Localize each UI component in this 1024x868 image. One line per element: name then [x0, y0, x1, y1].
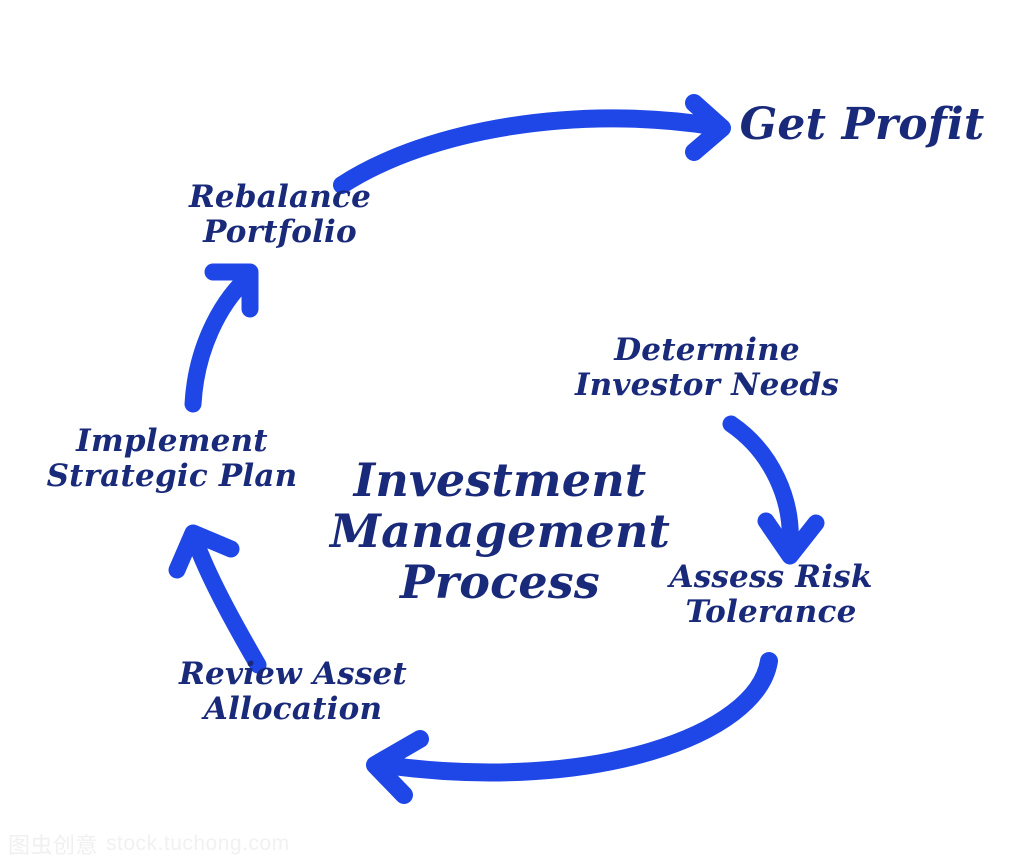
watermark-brand: 图虫创意 — [8, 828, 98, 860]
arrow-implement-to-rebalance — [193, 272, 250, 404]
page-title-line-2: Management — [330, 507, 670, 556]
step-label-implement[interactable]: Implement Strategic Plan — [47, 424, 298, 493]
arrow-review-to-implement — [177, 533, 258, 665]
diagram-canvas: Investment Management Process Determine … — [0, 0, 1024, 868]
watermark: 图虫创意 stock.tuchong.com — [8, 828, 290, 860]
arrow-assess-to-review — [375, 661, 769, 795]
outcome-label-get-profit[interactable]: Get Profit — [740, 100, 985, 149]
watermark-url: stock.tuchong.com — [106, 832, 290, 856]
arrow-rebalance-to-profit — [342, 103, 722, 185]
step-label-assess[interactable]: Assess Risk Tolerance — [669, 560, 872, 629]
step-label-determine[interactable]: Determine Investor Needs — [575, 333, 839, 402]
step-label-rebalance[interactable]: Rebalance Portfolio — [189, 180, 371, 249]
page-title-line-3: Process — [400, 558, 600, 607]
page-title: Investment — [354, 456, 647, 505]
arrow-determine-to-assess — [731, 424, 816, 556]
step-label-review[interactable]: Review Asset Allocation — [179, 657, 407, 726]
